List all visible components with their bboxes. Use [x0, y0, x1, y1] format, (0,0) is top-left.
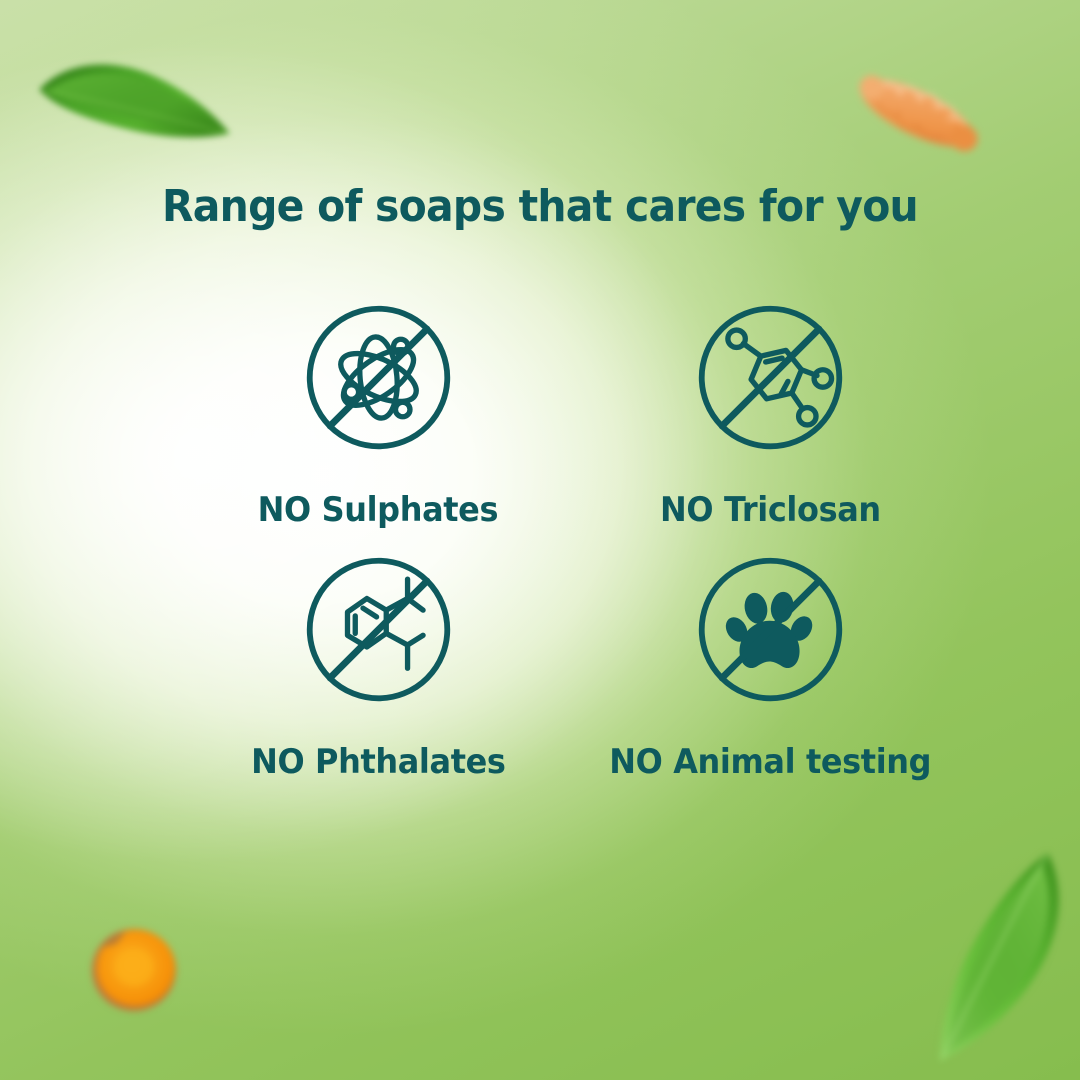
claim-label-triclosan: NO Triclosan [660, 490, 881, 530]
claims-grid: NO Sulphates [150, 300, 930, 804]
page-title: Range of soaps that cares for you [38, 183, 1042, 231]
claim-item-triclosan: NO Triclosan [575, 300, 965, 552]
no-paw-icon [693, 552, 848, 707]
claim-label-animal-testing: NO Animal testing [609, 742, 931, 782]
no-atom-icon [301, 300, 456, 455]
poster-content: Range of soaps that cares for you [0, 0, 1080, 1080]
claim-item-phthalates: NO Phthalates [183, 552, 573, 804]
claim-label-phthalates: NO Phthalates [251, 742, 505, 782]
claim-item-animal-testing: NO Animal testing [575, 552, 965, 804]
promo-poster: Range of soaps that cares for you [0, 0, 1080, 1080]
claim-item-sulphates: NO Sulphates [183, 300, 573, 552]
claim-label-sulphates: NO Sulphates [258, 490, 498, 530]
no-phthalate-icon [301, 552, 456, 707]
no-molecule-icon [693, 300, 848, 455]
